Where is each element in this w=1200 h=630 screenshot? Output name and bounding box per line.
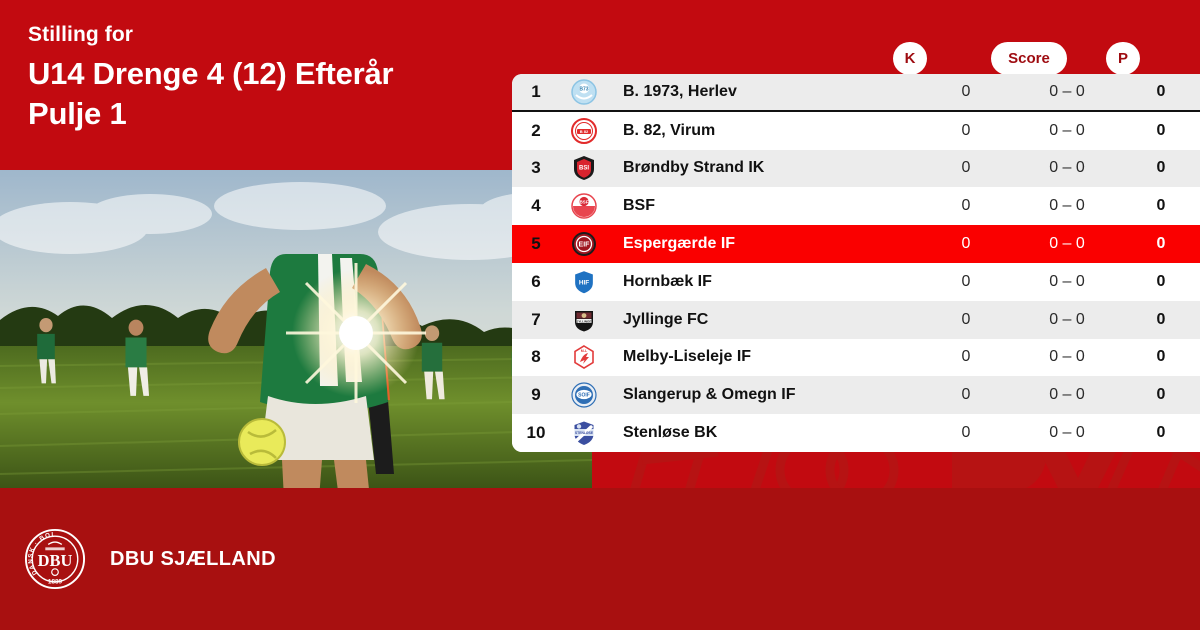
row-team: Slangerup & Omegn IF (608, 386, 920, 404)
hero-photo (0, 170, 592, 488)
row-team: Hornbæk IF (608, 273, 920, 291)
table-row[interactable]: 3 BSI Brøndby Strand IK 0 0 – 0 0 (512, 150, 1200, 188)
row-rank: 8 (512, 347, 560, 367)
svg-text:DBU: DBU (38, 551, 73, 570)
standings-graphic: Stilling for U14 Drenge 4 (12) Efterår P… (0, 0, 1200, 630)
slangerup-crest-icon: SOIF (560, 382, 608, 408)
footer-org-name: DBU SJÆLLAND (110, 548, 276, 571)
row-score: 0 – 0 (1012, 424, 1122, 442)
svg-text:B73: B73 (579, 86, 588, 92)
footer: DANSK · BOLDSPIL · UNION DBU 1889 DBU SJ… (0, 488, 1200, 630)
page-title-line-1: U14 Drenge 4 (12) Efterår (28, 54, 548, 94)
row-p: 0 (1122, 235, 1200, 253)
b1973-herlev-crest-icon: B73 (560, 79, 608, 105)
b82-virum-crest-icon: B 82 (560, 118, 608, 144)
row-team: Melby-Liseleje IF (608, 348, 920, 366)
row-rank: 1 (512, 82, 560, 102)
column-header-p: P (1106, 42, 1140, 75)
dbu-crest-logo: DANSK · BOLDSPIL · UNION DBU 1889 (24, 528, 86, 590)
row-score: 0 – 0 (1012, 159, 1122, 177)
row-score: 0 – 0 (1012, 311, 1122, 329)
table-row[interactable]: 9 SOIF Slangerup & Omegn IF 0 0 – 0 0 (512, 376, 1200, 414)
table-row[interactable]: 1 B73 B. 1973, Herlev 0 0 – 0 0 (512, 74, 1200, 112)
row-team: Brøndby Strand IK (608, 159, 920, 177)
row-team: B. 82, Virum (608, 122, 920, 140)
table-row[interactable]: 8 M-L Melby-Liseleje IF 0 0 – 0 0 (512, 339, 1200, 377)
row-rank: 6 (512, 272, 560, 292)
stenlose-crest-icon: STENLØSE (560, 420, 608, 446)
row-p: 0 (1122, 348, 1200, 366)
row-k: 0 (920, 197, 1012, 215)
espergaerde-crest-icon: EIF (560, 231, 608, 257)
row-score: 0 – 0 (1012, 348, 1122, 366)
jyllinge-crest-icon: JYLLINGE (560, 307, 608, 333)
row-p: 0 (1122, 386, 1200, 404)
svg-text:JYLLINGE: JYLLINGE (577, 319, 592, 323)
row-p: 0 (1122, 197, 1200, 215)
table-row[interactable]: 10 STENLØSE Stenløse BK 0 0 – 0 0 (512, 414, 1200, 452)
row-rank: 3 (512, 158, 560, 178)
row-p: 0 (1122, 273, 1200, 291)
row-p: 0 (1122, 311, 1200, 329)
row-team: B. 1973, Herlev (608, 83, 920, 101)
svg-text:SOIF: SOIF (578, 393, 590, 399)
row-score: 0 – 0 (1012, 197, 1122, 215)
melby-liseleje-crest-icon: M-L (560, 344, 608, 370)
svg-text:1889: 1889 (48, 579, 63, 586)
row-k: 0 (920, 83, 1012, 101)
standings-table: 1 B73 B. 1973, Herlev 0 0 – 0 0 2 B 82 B… (512, 74, 1200, 452)
row-k: 0 (920, 159, 1012, 177)
bsf-crest-icon: BSF (560, 193, 608, 219)
row-team: BSF (608, 197, 920, 215)
table-row-highlighted[interactable]: 5 EIF Espergærde IF 0 0 – 0 0 (512, 225, 1200, 263)
page-title: U14 Drenge 4 (12) Efterår Pulje 1 (28, 54, 548, 134)
column-headers: K Score P (512, 42, 1200, 76)
row-k: 0 (920, 311, 1012, 329)
row-p: 0 (1122, 83, 1200, 101)
row-k: 0 (920, 424, 1012, 442)
row-k: 0 (920, 348, 1012, 366)
svg-text:B 82: B 82 (580, 129, 589, 134)
table-row[interactable]: 6 HIF Hornbæk IF 0 0 – 0 0 (512, 263, 1200, 301)
row-rank: 5 (512, 234, 560, 254)
row-k: 0 (920, 273, 1012, 291)
svg-text:BSF: BSF (580, 200, 589, 205)
row-k: 0 (920, 235, 1012, 253)
hornbaek-crest-icon: HIF (560, 269, 608, 295)
row-score: 0 – 0 (1012, 122, 1122, 140)
row-team: Espergærde IF (608, 235, 920, 253)
row-score: 0 – 0 (1012, 386, 1122, 404)
row-p: 0 (1122, 159, 1200, 177)
row-p: 0 (1122, 122, 1200, 140)
row-k: 0 (920, 386, 1012, 404)
brondby-strand-crest-icon: BSI (560, 155, 608, 181)
row-team: Jyllinge FC (608, 311, 920, 329)
row-rank: 10 (512, 423, 560, 443)
row-team: Stenløse BK (608, 424, 920, 442)
svg-text:STENLØSE: STENLØSE (575, 431, 594, 435)
row-p: 0 (1122, 424, 1200, 442)
page-title-line-2: Pulje 1 (28, 94, 548, 134)
table-row[interactable]: 2 B 82 B. 82, Virum 0 0 – 0 0 (512, 112, 1200, 150)
table-row[interactable]: 7 JYLLINGE Jyllinge FC 0 0 – 0 0 (512, 301, 1200, 339)
row-k: 0 (920, 122, 1012, 140)
row-rank: 9 (512, 385, 560, 405)
svg-text:BSI: BSI (579, 166, 589, 172)
svg-text:EIF: EIF (579, 242, 591, 249)
row-rank: 7 (512, 310, 560, 330)
svg-text:M-L: M-L (581, 349, 588, 353)
row-score: 0 – 0 (1012, 273, 1122, 291)
row-score: 0 – 0 (1012, 235, 1122, 253)
column-header-score: Score (991, 42, 1067, 75)
column-header-k: K (893, 42, 927, 75)
row-rank: 4 (512, 196, 560, 216)
svg-text:HIF: HIF (579, 279, 589, 286)
row-score: 0 – 0 (1012, 83, 1122, 101)
table-row[interactable]: 4 BSF BSF 0 0 – 0 0 (512, 187, 1200, 225)
row-rank: 2 (512, 121, 560, 141)
